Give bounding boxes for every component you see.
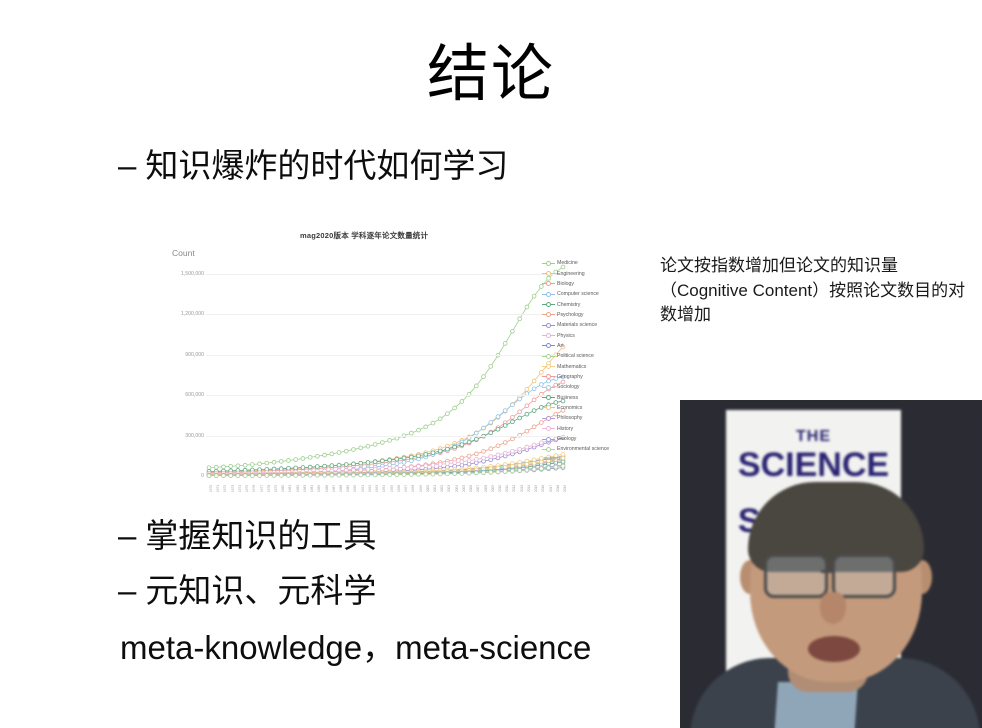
legend-label: Sociology <box>555 384 580 390</box>
legend-marker-icon <box>542 394 555 402</box>
x-axis-tick-label: 1997 <box>404 485 408 492</box>
x-axis-tick-label: 2010 <box>498 485 502 492</box>
legend-title: subject <box>544 456 560 462</box>
y-axis-tick-label: 300,000 <box>162 433 204 439</box>
person-portrait <box>680 400 982 728</box>
chart-legend: MedicineEngineeringBiologyComputer scien… <box>542 258 638 455</box>
x-axis-tick-label: 2013 <box>520 485 524 492</box>
x-axis-tick-label: 2005 <box>462 485 466 492</box>
eyeglasses-right-lens <box>832 554 896 598</box>
y-axis-tick-label: 1,200,000 <box>162 311 204 317</box>
legend-label: Computer science <box>555 291 599 297</box>
legend-item-mathematics[interactable]: Mathematics <box>542 361 638 371</box>
legend-item-engineering[interactable]: Engineering <box>542 268 638 278</box>
legend-label: Physics <box>555 333 575 339</box>
chart-figure: mag2020版本 学科逐年论文数量统计 Count 0300,000600,0… <box>160 228 630 496</box>
legend-marker-icon <box>542 352 555 360</box>
x-axis-tick-label: 1987 <box>332 485 336 492</box>
x-axis-tick-label: 1976 <box>252 485 256 492</box>
legend-marker-icon <box>542 280 555 288</box>
legend-item-economics[interactable]: Economics <box>542 403 638 413</box>
y-axis-tick-label: 1,500,000 <box>162 271 204 277</box>
chart-gridline <box>206 395 566 396</box>
chart-gridline <box>206 355 566 356</box>
legend-item-environmental-science[interactable]: Environmental science <box>542 444 638 454</box>
x-axis-tick-label: 1971 <box>216 485 220 492</box>
legend-marker-icon <box>542 425 555 433</box>
chart-gridline <box>206 436 566 437</box>
x-axis-tick-label: 2002 <box>440 485 444 492</box>
x-axis-tick-label: 1970 <box>209 485 213 492</box>
bullet-item-2: –掌握知识的工具 <box>118 518 376 554</box>
legend-item-psychology[interactable]: Psychology <box>542 310 638 320</box>
legend-marker-icon <box>542 290 555 298</box>
legend-label: Political science <box>555 353 594 359</box>
x-axis-tick-label: 1974 <box>238 485 242 492</box>
legend-item-computer-science[interactable]: Computer science <box>542 289 638 299</box>
legend-marker-icon <box>542 270 555 278</box>
x-axis-tick-label: 2001 <box>433 485 437 492</box>
x-axis-tick-label: 2015 <box>534 485 538 492</box>
x-axis-tick-label: 1995 <box>390 485 394 492</box>
x-axis-tick-label: 1992 <box>368 485 372 492</box>
eyeglasses-bridge <box>821 570 833 573</box>
x-axis-tick-label: 2000 <box>426 485 430 492</box>
bullet-dash: – <box>118 518 136 554</box>
legend-label: Mathematics <box>555 364 586 370</box>
y-axis-tick-label: 0 <box>162 473 204 479</box>
x-axis-tick-label: 1975 <box>245 485 249 492</box>
legend-marker-icon <box>542 445 555 453</box>
legend-item-materials-science[interactable]: Materials science <box>542 320 638 330</box>
eyeglasses-left-lens <box>764 554 828 598</box>
y-axis-ticks: 0300,000600,000900,0001,200,0001,500,000 <box>160 228 204 496</box>
legend-label: Medicine <box>555 260 578 266</box>
legend-label: Geography <box>555 374 583 380</box>
legend-label: Art <box>555 343 564 349</box>
legend-marker-icon <box>542 332 555 340</box>
x-axis-tick-label: 1981 <box>288 485 292 492</box>
x-axis-tick-label: 2007 <box>476 485 480 492</box>
legend-item-sociology[interactable]: Sociology <box>542 382 638 392</box>
legend-marker-icon <box>542 404 555 412</box>
x-axis-tick-label: 1988 <box>339 485 343 492</box>
legend-marker-icon <box>542 301 555 309</box>
x-axis-tick-label: 2014 <box>527 485 531 492</box>
chart-series-svg <box>206 260 566 476</box>
x-axis-tick-label: 1977 <box>260 485 264 492</box>
x-axis-tick-label: 2017 <box>549 485 553 492</box>
legend-marker-icon <box>542 321 555 329</box>
legend-item-geology[interactable]: Geology <box>542 434 638 444</box>
legend-marker-icon <box>542 435 555 443</box>
x-axis-tick-label: 2012 <box>512 485 516 492</box>
legend-item-political-science[interactable]: Political science <box>542 351 638 361</box>
chart-series-computer-science <box>207 375 565 477</box>
legend-item-art[interactable]: Art <box>542 341 638 351</box>
annotation-text: 论文按指数增加但论文的知识量（Cognitive Content）按照论文数目的… <box>660 254 980 328</box>
bullet-text: 知识爆炸的时代如何学习 <box>145 147 508 184</box>
x-axis-tick-label: 1989 <box>346 485 350 492</box>
x-axis-tick-label: 1990 <box>353 485 357 492</box>
x-axis-tick-label: 2006 <box>469 485 473 492</box>
x-axis-tick-label: 2019 <box>563 485 566 492</box>
x-axis-tick-label: 1998 <box>411 485 415 492</box>
page-title: 结论 <box>0 44 982 106</box>
legend-label: Business <box>555 395 578 401</box>
bullet-dash: – <box>118 573 136 609</box>
x-axis-tick-label: 1980 <box>281 485 285 492</box>
x-axis-tick-label: 2016 <box>541 485 545 492</box>
x-axis-tick-label: 1991 <box>361 485 365 492</box>
legend-marker-icon <box>542 363 555 371</box>
legend-label: Psychology <box>555 312 584 318</box>
y-axis-tick-label: 900,000 <box>162 352 204 358</box>
legend-marker-icon <box>542 373 555 381</box>
x-axis-tick-label: 1982 <box>296 485 300 492</box>
legend-label: History <box>555 426 573 432</box>
person-mouth <box>808 636 860 662</box>
x-axis-tick-label: 2011 <box>505 485 509 492</box>
x-axis-tick-label: 1993 <box>375 485 379 492</box>
legend-marker-icon <box>542 414 555 422</box>
x-axis-tick-label: 1996 <box>397 485 401 492</box>
x-axis-tick-label: 1979 <box>274 485 278 492</box>
legend-label: Materials science <box>555 322 597 328</box>
meta-knowledge-line: meta-knowledge，meta-science <box>120 630 591 666</box>
bullet-text: 掌握知识的工具 <box>145 517 376 554</box>
x-axis-tick-label: 2003 <box>447 485 451 492</box>
bullet-dash: – <box>118 148 136 184</box>
chart-plot-area <box>206 260 566 476</box>
x-axis-tick-label: 2008 <box>484 485 488 492</box>
legend-item-business[interactable]: Business <box>542 392 638 402</box>
legend-item-medicine[interactable]: Medicine <box>542 258 638 268</box>
legend-item-biology[interactable]: Biology <box>542 279 638 289</box>
legend-label: Geology <box>555 436 576 442</box>
person-nose <box>820 592 846 624</box>
chart-gridline <box>206 274 566 275</box>
legend-label: Environmental science <box>555 446 609 452</box>
chart-title: mag2020版本 学科逐年论文数量统计 <box>300 230 428 241</box>
x-axis-tick-label: 1972 <box>223 485 227 492</box>
x-axis-tick-label: 1978 <box>267 485 271 492</box>
x-axis-tick-label: 1983 <box>303 485 307 492</box>
legend-item-history[interactable]: History <box>542 424 638 434</box>
bullet-text: 元知识、元科学 <box>145 572 376 609</box>
x-axis-tick-label: 1985 <box>317 485 321 492</box>
x-axis-tick-label: 1984 <box>310 485 314 492</box>
bullet-item-3: –元知识、元科学 <box>118 573 376 609</box>
x-axis-tick-label: 2004 <box>455 485 459 492</box>
x-axis-tick-label: 1999 <box>419 485 423 492</box>
legend-item-geography[interactable]: Geography <box>542 372 638 382</box>
legend-item-philosophy[interactable]: Philosophy <box>542 413 638 423</box>
bullet-item-1: –知识爆炸的时代如何学习 <box>118 148 508 184</box>
x-axis-tick-label: 1994 <box>382 485 386 492</box>
legend-marker-icon <box>542 259 555 267</box>
legend-item-chemistry[interactable]: Chemistry <box>542 299 638 309</box>
legend-label: Philosophy <box>555 415 582 421</box>
x-axis-tick-label: 2018 <box>556 485 560 492</box>
legend-label: Biology <box>555 281 574 287</box>
chart-gridline <box>206 314 566 315</box>
legend-label: Chemistry <box>555 302 580 308</box>
legend-item-physics[interactable]: Physics <box>542 330 638 340</box>
legend-marker-icon <box>542 383 555 391</box>
legend-label: Economics <box>555 405 582 411</box>
legend-label: Engineering <box>555 271 585 277</box>
x-axis-tick-label: 1986 <box>325 485 329 492</box>
webcam-video-tile[interactable]: THE SCIENCE OF SCIENCE AL <box>680 400 982 728</box>
legend-marker-icon <box>542 342 555 350</box>
x-axis-ticks: 1970197119721973197419751976197719781979… <box>206 478 566 496</box>
x-axis-tick-label: 2009 <box>491 485 495 492</box>
y-axis-tick-label: 600,000 <box>162 392 204 398</box>
legend-marker-icon <box>542 311 555 319</box>
x-axis-tick-label: 1973 <box>231 485 235 492</box>
